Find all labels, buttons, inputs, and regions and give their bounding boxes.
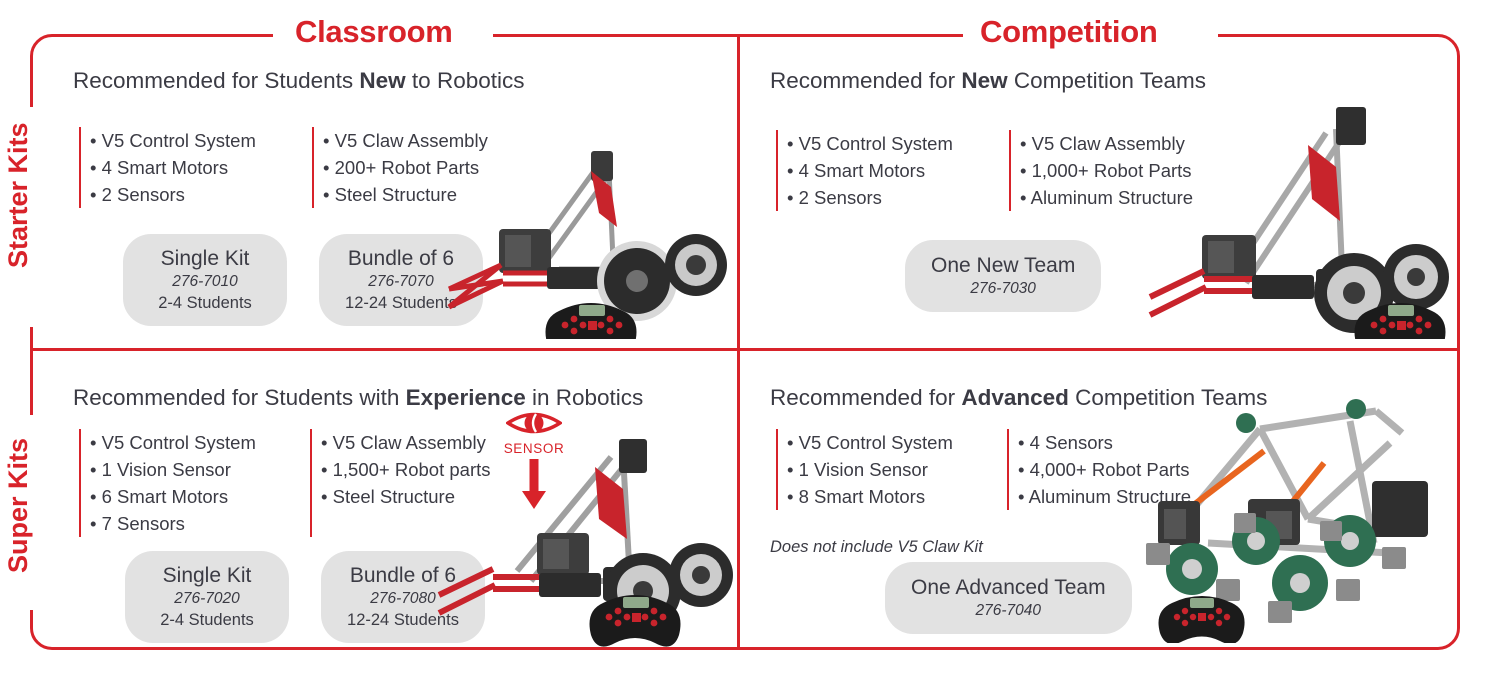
feature-column-1: V5 Control System 1 Vision Sensor 8 Smar… [776, 429, 985, 510]
pill-subtext: 2-4 Students [145, 292, 265, 314]
heading-part-pre: Recommended for [770, 385, 961, 410]
pill-sku: 276-7010 [145, 272, 265, 292]
heading-classroom-starter: Recommended for Students New to Robotics [73, 70, 524, 93]
heading-part-post: to Robotics [406, 68, 525, 93]
pill-title: One Advanced Team [911, 575, 1106, 601]
section-title-competition: Competition [980, 16, 1158, 47]
feature-item: 4 Smart Motors [787, 157, 987, 184]
section-title-classroom: Classroom [295, 16, 453, 47]
feature-item: 2 Sensors [90, 181, 290, 208]
pill-title: Single Kit [147, 563, 267, 589]
feature-item: V5 Control System [787, 130, 987, 157]
feature-item: V5 Control System [90, 127, 290, 154]
feature-item: 1 Vision Sensor [787, 456, 985, 483]
heading-classroom-super: Recommended for Students with Experience… [73, 387, 643, 410]
pill-subtext: 2-4 Students [147, 609, 267, 631]
robot-image-competition-super [1140, 393, 1457, 643]
feature-column-1: V5 Control System 1 Vision Sensor 6 Smar… [79, 429, 288, 537]
robot-image-classroom-super [433, 439, 737, 647]
pill-sku: 276-7040 [911, 601, 1106, 621]
quadrant-competition-starter: Recommended for New Competition Teams V5… [740, 37, 1457, 348]
pill-title: Single Kit [145, 246, 265, 272]
feature-item: 6 Smart Motors [90, 483, 288, 510]
feature-item: 1 Vision Sensor [90, 456, 288, 483]
pill-single-kit[interactable]: Single Kit 276-7010 2-4 Students [123, 234, 287, 326]
heading-part-pre: Recommended for [770, 68, 961, 93]
heading-part-pre: Recommended for Students with [73, 385, 406, 410]
feature-item: V5 Control System [787, 429, 985, 456]
pill-one-advanced-team[interactable]: One Advanced Team 276-7040 [885, 562, 1132, 634]
side-label-super-kits: Super Kits [0, 390, 38, 620]
robot-image-classroom-starter [441, 109, 731, 339]
pill-group-competition-super: One Advanced Team 276-7040 [885, 562, 1164, 634]
sensor-label: SENSOR [497, 441, 571, 456]
pill-sku: 276-7020 [147, 589, 267, 609]
sensor-callout: SENSOR [497, 408, 571, 516]
pill-one-new-team[interactable]: One New Team 276-7030 [905, 240, 1101, 312]
footnote-no-claw-kit: Does not include V5 Claw Kit [770, 538, 983, 557]
feature-column-1: V5 Control System 4 Smart Motors 2 Senso… [79, 127, 290, 208]
down-arrow-icon [519, 459, 549, 511]
pill-group-competition-starter: One New Team 276-7030 [905, 240, 1133, 312]
heading-part-bold: Advanced [961, 385, 1069, 410]
quadrant-classroom-super: Recommended for Students with Experience… [33, 351, 737, 647]
heading-part-pre: Recommended for Students [73, 68, 359, 93]
heading-part-bold: New [359, 68, 405, 93]
heading-part-bold: New [961, 68, 1007, 93]
feature-item: 8 Smart Motors [787, 483, 985, 510]
controller-icon [1159, 596, 1245, 643]
quadrant-classroom-starter: Recommended for Students New to Robotics… [33, 37, 737, 348]
comparison-chart-frame: Recommended for Students New to Robotics… [30, 34, 1460, 650]
quadrant-competition-super: Recommended for Advanced Competition Tea… [740, 351, 1457, 647]
eye-icon [506, 408, 562, 438]
heading-part-post: in Robotics [526, 385, 644, 410]
side-label-starter-kits: Starter Kits [0, 70, 38, 320]
pill-sku: 276-7030 [931, 279, 1075, 299]
heading-part-bold: Experience [406, 385, 526, 410]
feature-item: 7 Sensors [90, 510, 288, 537]
pill-title: One New Team [931, 253, 1075, 279]
robot-image-competition-starter [1140, 89, 1457, 339]
feature-item: 4 Smart Motors [90, 154, 290, 181]
feature-item: V5 Control System [90, 429, 288, 456]
feature-column-1: V5 Control System 4 Smart Motors 2 Senso… [776, 130, 987, 211]
feature-item: 2 Sensors [787, 184, 987, 211]
pill-single-kit[interactable]: Single Kit 276-7020 2-4 Students [125, 551, 289, 643]
